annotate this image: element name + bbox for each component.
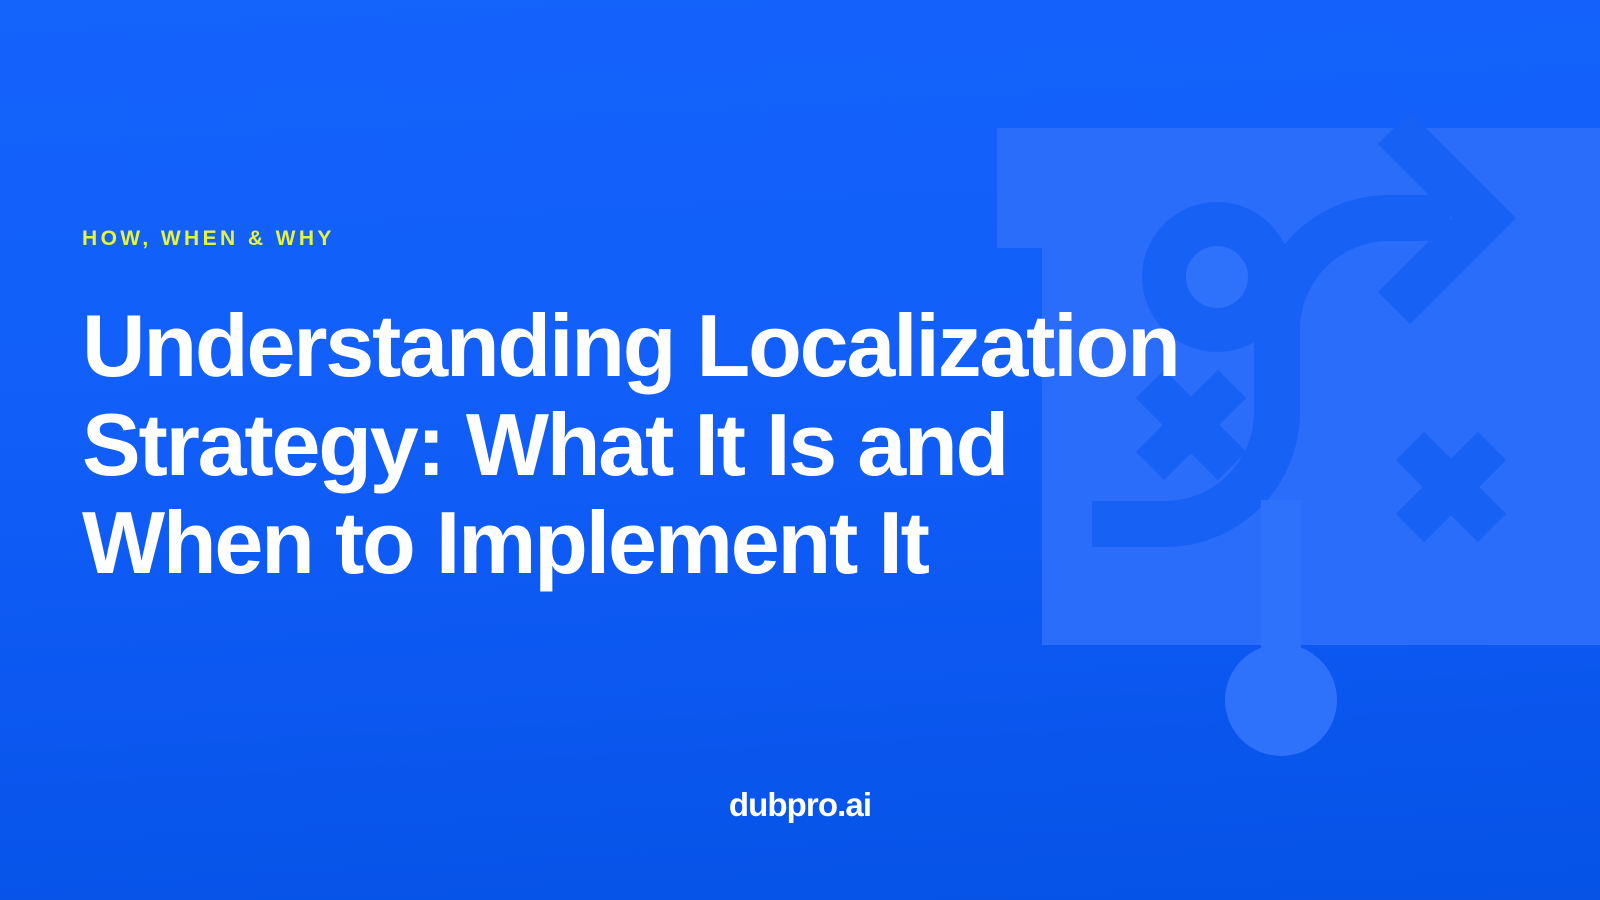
hero-text-block: HOW, WHEN & WHY Understanding Localizati… bbox=[82, 228, 1302, 593]
eyebrow-label: HOW, WHEN & WHY bbox=[82, 228, 1302, 249]
hero-banner: HOW, WHEN & WHY Understanding Localizati… bbox=[0, 0, 1600, 900]
page-title-line-3: When to Implement It bbox=[82, 494, 1262, 593]
page-title-line-1: Understanding Localization bbox=[82, 297, 1262, 396]
page-title-line-2: Strategy: What It Is and bbox=[82, 396, 1262, 495]
arrow-head-shape bbox=[1378, 112, 1516, 324]
cross-mark-right-shape bbox=[1369, 405, 1533, 569]
page-title: Understanding Localization Strategy: Wha… bbox=[82, 297, 1262, 593]
brand-logo[interactable]: dubpro.ai bbox=[0, 786, 1600, 824]
